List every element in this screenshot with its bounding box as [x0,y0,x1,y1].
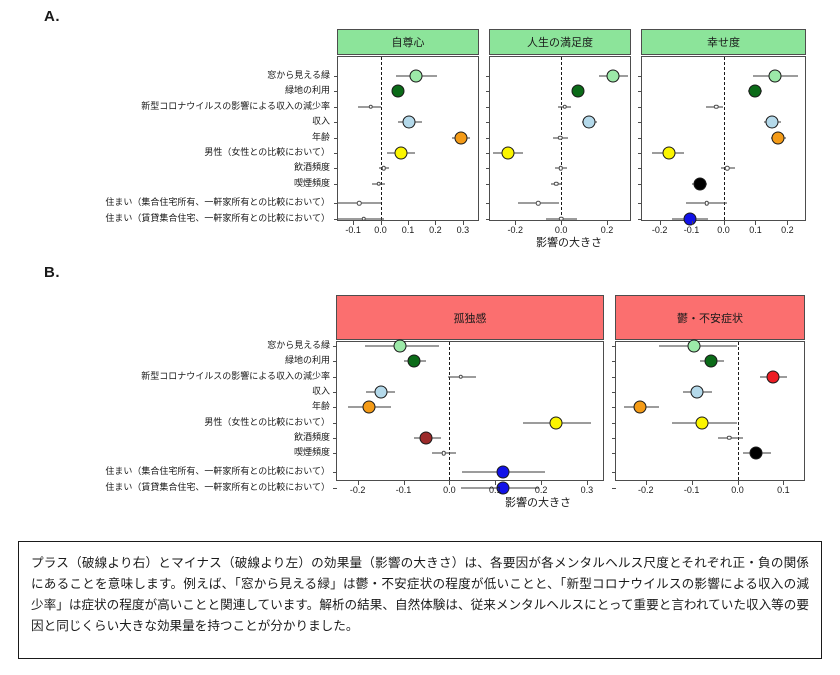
chart-header-depression-anxiety: 鬱・不安症状 [615,295,805,340]
estimate-point [407,355,420,368]
x-axis-tick-label: 0.1 [489,485,502,495]
estimate-point [393,340,406,353]
estimate-point [459,374,464,379]
y-axis-tick [612,488,616,489]
y-axis-tick [333,361,337,362]
estimate-point [634,401,647,414]
panel-a-axis-title: 影響の大きさ [536,234,602,250]
panel-b-axis-title: 影響の大きさ [505,494,571,510]
estimate-point [767,370,780,383]
x-axis-tick-label: 0.0 [443,485,456,495]
y-axis-tick [612,407,616,408]
chart-title: 孤独感 [454,310,487,326]
chart-plot-depression-anxiety [615,341,805,481]
y-axis-tick [612,472,616,473]
x-axis-tick-label: 0.0 [731,485,744,495]
y-axis-tick [333,472,337,473]
x-axis-tick-label: -0.2 [350,485,366,495]
x-axis-tick-label: 0.3 [581,485,594,495]
estimate-point [442,451,447,456]
caption-box: プラス（破線より右）とマイナス（破線より左）の効果量（影響の大きさ）は、各要因が… [18,541,822,659]
y-axis-tick [333,438,337,439]
chart-header-loneliness: 孤独感 [336,295,604,340]
caption-text: プラス（破線より右）とマイナス（破線より左）の効果量（影響の大きさ）は、各要因が… [31,552,809,636]
y-axis-tick [612,361,616,362]
estimate-point [374,385,387,398]
zero-reference-line [738,342,739,480]
x-axis-tick-label: -0.1 [684,485,700,495]
figure-panel-b: 孤独感-0.2-0.10.00.10.20.3鬱・不安症状-0.2-0.10.0… [0,0,840,520]
estimate-point [687,340,700,353]
y-axis-tick [612,438,616,439]
x-axis-tick-label: -0.2 [638,485,654,495]
y-axis-tick [612,453,616,454]
estimate-point [727,436,732,441]
estimate-point [550,416,563,429]
y-axis-tick [612,392,616,393]
y-axis-tick [333,423,337,424]
y-axis-tick [612,423,616,424]
y-axis-tick [333,346,337,347]
y-axis-tick [612,346,616,347]
chart-plot-loneliness [336,341,604,481]
y-axis-tick [333,488,337,489]
estimate-point [420,431,433,444]
estimate-point [691,385,704,398]
estimate-point [497,466,510,479]
y-axis-tick [333,392,337,393]
x-axis-tick-label: 0.1 [777,485,790,495]
chart-title: 鬱・不安症状 [677,310,743,326]
estimate-point [749,447,762,460]
y-axis-tick [612,377,616,378]
estimate-point [704,355,717,368]
y-axis-tick [333,453,337,454]
y-axis-tick [333,377,337,378]
x-axis-tick-label: -0.1 [396,485,412,495]
zero-reference-line [449,342,450,480]
y-axis-tick [333,407,337,408]
estimate-point [695,416,708,429]
estimate-point [363,401,376,414]
